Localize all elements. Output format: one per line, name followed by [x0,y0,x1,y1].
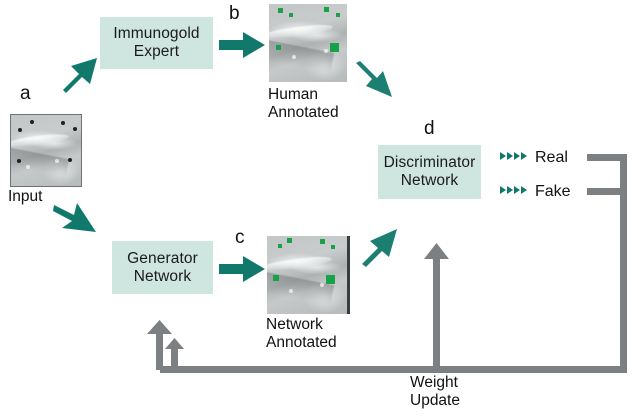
discriminator-network-box[interactable]: Discriminator Network [378,145,481,199]
arrow-input-to-expert [57,54,103,96]
immunogold-expert-box[interactable]: Immunogold Expert [100,17,213,69]
network-annotated-caption-line1: Network [266,316,337,334]
annotation-marker [326,275,335,284]
chevron-right-icon [507,152,513,160]
human-annotated-micrograph [269,4,347,82]
human-annotated-caption-line1: Human [268,86,339,104]
arrow-expert-to-human-annotated [219,29,267,61]
immunogold-expert-label-line2: Expert [113,43,199,61]
chevrons-real [500,152,527,160]
panel-letter-d: d [424,119,435,138]
annotation-marker [331,245,335,249]
feedback-arrow-secondary [163,338,186,370]
annotation-marker [273,275,279,281]
generator-network-label-line2: Network [127,268,198,286]
panel-letter-b: b [229,4,240,23]
weight-update-caption-line1: Weight [410,374,460,392]
annotation-marker [330,43,339,52]
panel-letter-c: c [235,228,245,247]
discriminator-network-label-line1: Discriminator [384,154,476,172]
chevron-right-icon [514,186,520,194]
gold-particle [18,128,22,132]
arrow-network-annotated-to-discriminator [356,224,404,267]
output-label-fake: Fake [535,183,571,201]
annotation-marker [324,7,329,12]
human-annotated-caption: Human Annotated [268,86,339,122]
arrow-generator-to-network-annotated [219,253,267,285]
generator-network-box[interactable]: Generator Network [112,241,213,294]
annotation-marker [278,8,283,13]
input-micrograph [10,114,82,187]
feedback-line-bottom [160,366,624,373]
network-annotated-caption-line2: Annotated [266,334,337,352]
feedback-line-vertical-right [620,154,627,373]
chevron-right-icon [507,186,513,194]
network-annotated-micrograph [267,236,350,314]
panel-letter-a: a [20,84,31,103]
micrograph-speck [324,49,328,53]
annotation-marker [287,238,292,243]
immunogold-expert-label-line1: Immunogold [113,25,199,43]
micrograph-speck [320,283,324,287]
figure-canvas: a b c d Input Immunogold Expert [0,0,633,418]
weight-update-caption-line2: Update [410,392,460,410]
weight-update-arrow [422,243,451,371]
output-label-real: Real [535,149,568,167]
chevron-right-icon [521,152,527,160]
chevron-right-icon [500,186,506,194]
annotation-marker [289,13,293,17]
gold-particle [17,159,21,163]
annotation-marker [276,45,281,50]
generator-network-label-line1: Generator [127,250,198,268]
input-caption: Input [8,188,42,206]
arrow-human-annotated-to-discriminator [352,60,400,103]
chevrons-fake [500,186,527,194]
gold-particle [73,127,77,131]
chevron-right-icon [514,152,520,160]
weight-update-caption: Weight Update [410,374,460,410]
discriminator-network-label-line2: Network [384,172,476,190]
gold-particle [30,120,34,124]
chevron-right-icon [500,152,506,160]
annotation-marker [278,244,282,248]
annotation-marker [320,239,325,244]
annotation-marker [336,13,340,17]
chevron-right-icon [521,186,527,194]
network-annotated-caption: Network Annotated [266,316,337,352]
arrow-input-to-generator [52,197,100,239]
human-annotated-caption-line2: Annotated [268,104,339,122]
